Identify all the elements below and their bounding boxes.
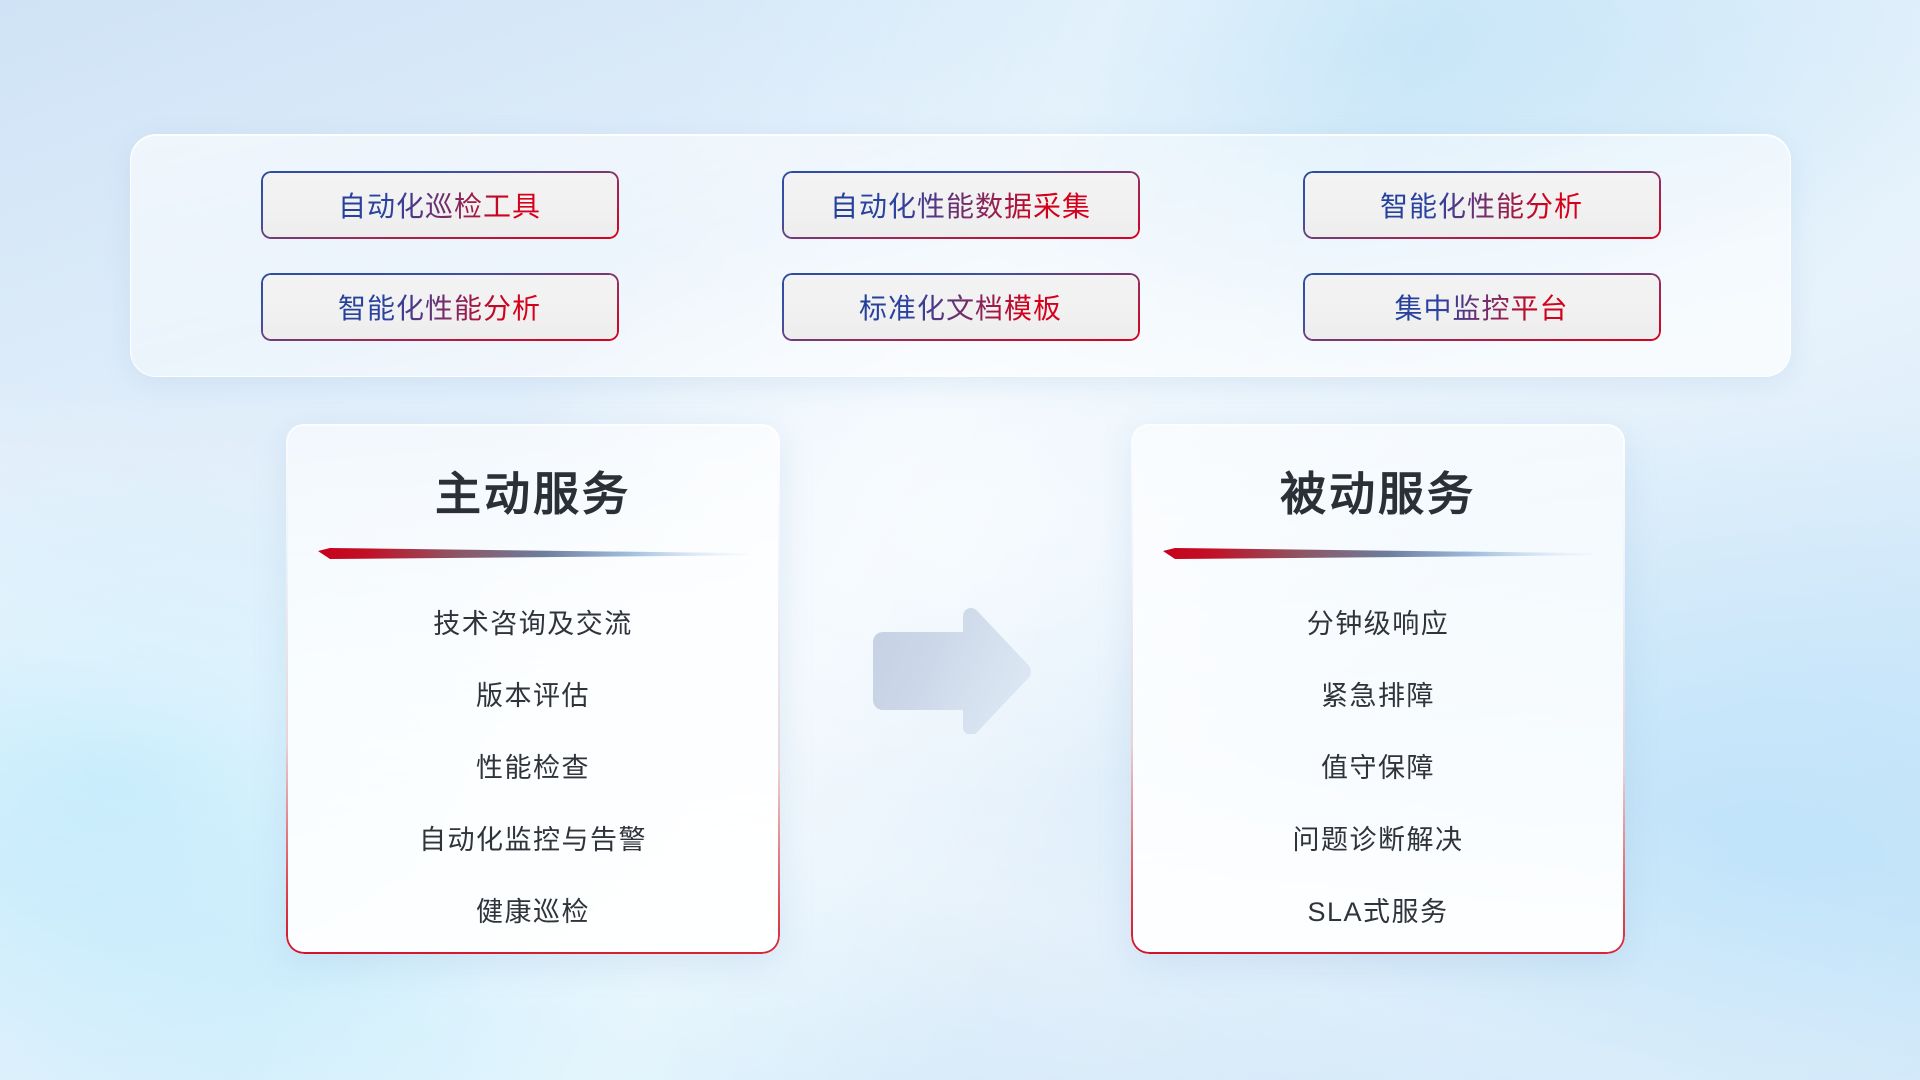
tag-chip[interactable]: 智能化性能分析 bbox=[1303, 171, 1661, 239]
right-arrow-icon bbox=[867, 608, 1037, 734]
list-item: SLA式服务 bbox=[1307, 876, 1448, 948]
list-item: 问题诊断解决 bbox=[1293, 804, 1464, 876]
capability-tags-panel: 自动化巡检工具 自动化性能数据采集 智能化性能分析 智能化性能分析 标准化文档模… bbox=[130, 134, 1791, 377]
tag-inner: 集中监控平台 bbox=[1305, 275, 1659, 339]
card-title-divider bbox=[318, 548, 748, 562]
tag-chip[interactable]: 标准化文档模板 bbox=[782, 273, 1140, 341]
tag-chip[interactable]: 自动化性能数据采集 bbox=[782, 171, 1140, 239]
tag-inner: 自动化性能数据采集 bbox=[784, 173, 1138, 237]
list-item: 健康巡检 bbox=[476, 876, 590, 948]
tag-row-1: 自动化巡检工具 自动化性能数据采集 智能化性能分析 bbox=[131, 160, 1790, 250]
tag-inner: 标准化文档模板 bbox=[784, 275, 1138, 339]
tag-chip[interactable]: 集中监控平台 bbox=[1303, 273, 1661, 341]
card-list: 技术咨询及交流 版本评估 性能检查 自动化监控与告警 健康巡检 bbox=[286, 588, 780, 948]
tag-chip[interactable]: 智能化性能分析 bbox=[261, 273, 619, 341]
tag-inner: 自动化巡检工具 bbox=[263, 173, 617, 237]
tag-label: 智能化性能分析 bbox=[338, 287, 541, 327]
tag-inner: 智能化性能分析 bbox=[263, 275, 617, 339]
list-item: 自动化监控与告警 bbox=[419, 804, 647, 876]
tag-label: 智能化性能分析 bbox=[1380, 185, 1583, 225]
tag-label: 标准化文档模板 bbox=[859, 287, 1062, 327]
tag-label: 自动化性能数据采集 bbox=[830, 185, 1091, 225]
tag-chip[interactable]: 自动化巡检工具 bbox=[261, 171, 619, 239]
tag-row-2: 智能化性能分析 标准化文档模板 集中监控平台 bbox=[131, 262, 1790, 352]
list-item: 值守保障 bbox=[1321, 732, 1435, 804]
card-list: 分钟级响应 紧急排障 值守保障 问题诊断解决 SLA式服务 bbox=[1131, 588, 1625, 948]
tag-label: 自动化巡检工具 bbox=[338, 185, 541, 225]
card-title: 主动服务 bbox=[286, 458, 780, 524]
card-title-divider bbox=[1163, 548, 1593, 562]
tag-inner: 智能化性能分析 bbox=[1305, 173, 1659, 237]
list-item: 分钟级响应 bbox=[1307, 588, 1450, 660]
list-item: 紧急排障 bbox=[1321, 660, 1435, 732]
service-card-passive: 被动服务 分钟级响应 紧急排障 值守保障 问题诊断解决 SLA式服务 bbox=[1131, 424, 1625, 954]
card-title: 被动服务 bbox=[1131, 458, 1625, 524]
tag-label: 集中监控平台 bbox=[1394, 287, 1568, 327]
list-item: 版本评估 bbox=[476, 660, 590, 732]
service-card-active: 主动服务 技术咨询及交流 版本评估 性能检查 自动化监控与告警 健康巡检 bbox=[286, 424, 780, 954]
list-item: 技术咨询及交流 bbox=[433, 588, 633, 660]
list-item: 性能检查 bbox=[476, 732, 590, 804]
